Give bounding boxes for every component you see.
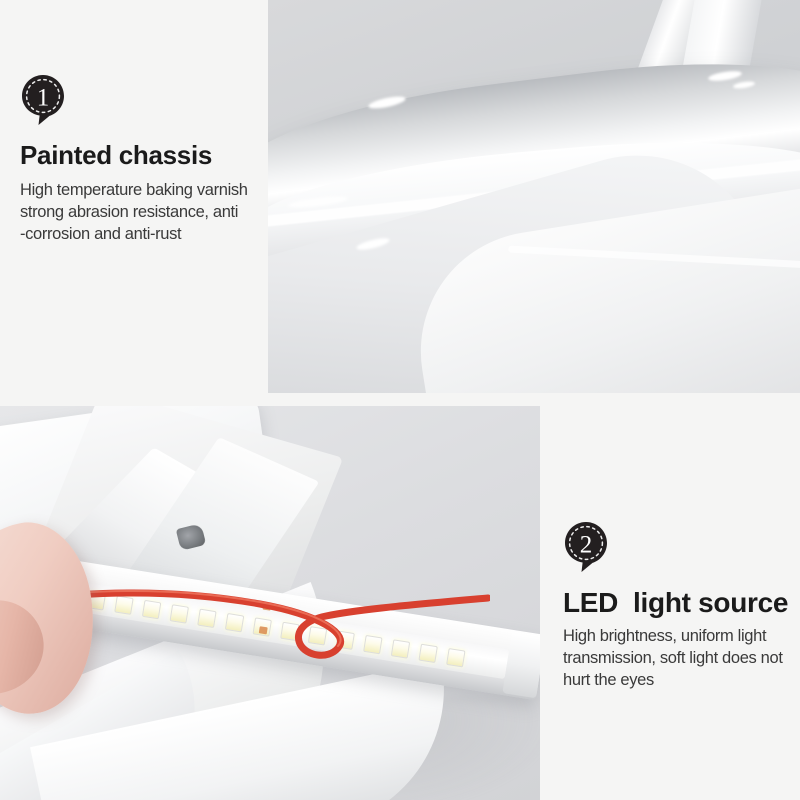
feature-description: High temperature baking varnish strong a…: [20, 180, 266, 246]
led-chip: [446, 648, 465, 667]
led-chip: [280, 621, 299, 640]
infographic-page: 1 Painted chassis High temperature bakin…: [0, 0, 800, 800]
led-chip: [142, 599, 161, 618]
badge-number: 1: [37, 85, 50, 112]
led-chip: [225, 612, 244, 631]
led-chip: [419, 643, 438, 662]
solder-pad: [262, 603, 271, 611]
badge-number: 2: [580, 532, 593, 559]
led-light-source-photo: [0, 406, 540, 800]
solder-pad: [259, 626, 268, 634]
led-chip: [197, 608, 216, 627]
led-chip: [336, 630, 355, 649]
numbered-speech-bubble-icon: 2: [563, 521, 609, 573]
channel-end-cap: [502, 632, 540, 699]
feature-block-led-light-source: 2 LED light source High brightness, unif…: [563, 521, 795, 692]
feature-title: LED light source: [563, 587, 795, 619]
led-chip: [391, 639, 410, 658]
numbered-speech-bubble-icon: 1: [20, 74, 66, 126]
feature-description: High brightness, uniform light transmiss…: [563, 626, 795, 692]
led-chip: [363, 634, 382, 653]
led-chip: [114, 595, 133, 614]
feature-title: Painted chassis: [20, 140, 266, 171]
painted-chassis-photo: [268, 0, 800, 393]
led-chip: [308, 626, 327, 645]
feature-block-painted-chassis: 1 Painted chassis High temperature bakin…: [20, 74, 266, 246]
led-chip: [170, 604, 189, 623]
